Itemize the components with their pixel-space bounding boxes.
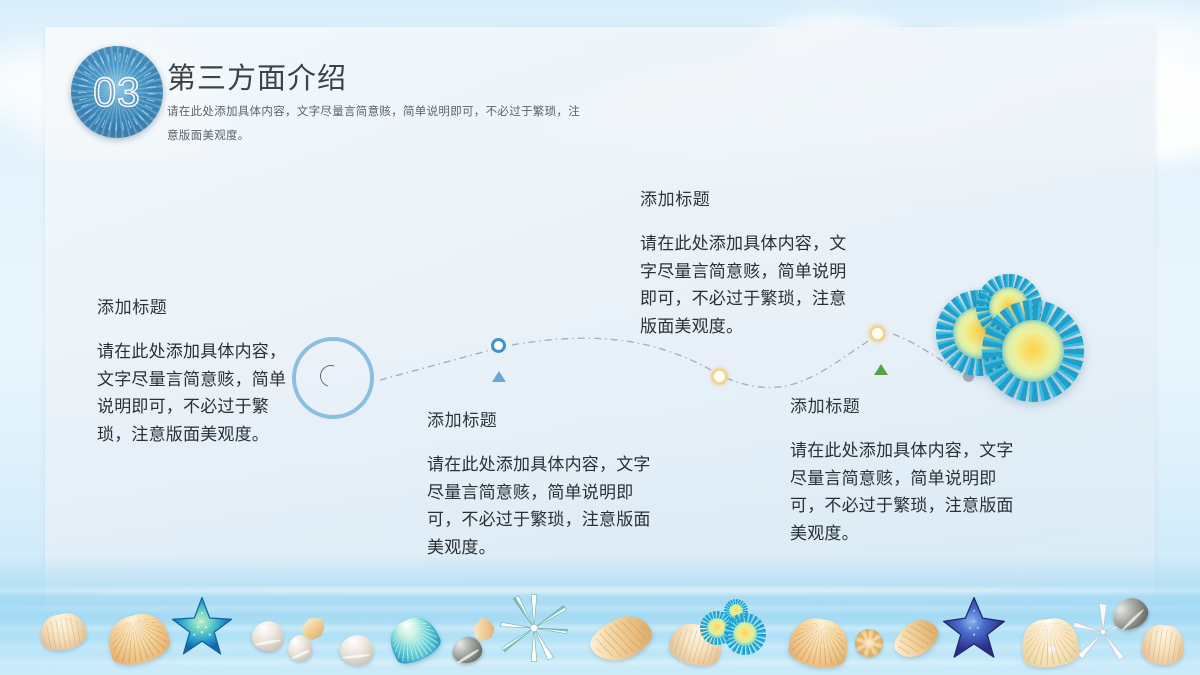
marker-gold-ring-left	[711, 368, 728, 385]
pebble-round-icon	[337, 632, 376, 668]
clam-shell-icon	[37, 610, 89, 655]
content-block-2: 添加标题 请在此处添加具体内容，文字尽量言简意赅，简单说明即可，不必过于繁琐，注…	[427, 406, 655, 561]
navy-starfish-icon	[940, 595, 1008, 661]
section-number-badge: 03	[71, 46, 163, 138]
block-body: 请在此处添加具体内容，文字尽量言简意赅，简单说明即可，不必过于繁琐，注意版面美观…	[427, 451, 655, 561]
scallop-shell-icon-2	[786, 614, 851, 671]
block-heading: 添加标题	[97, 293, 293, 318]
marker-blue-triangle	[492, 371, 506, 382]
slide-root: 03 第三方面介绍 请在此处添加具体内容，文字尽量言简意赅，简单说明即可，不必过…	[0, 0, 1200, 675]
arc-icon	[316, 361, 346, 391]
spire-shell-icon-3	[888, 612, 944, 666]
content-block-3: 添加标题 请在此处添加具体内容，文字尽量言简意赅，简单说明即可，不必过于繁琐，注…	[640, 185, 858, 340]
spiral-shell-icon	[855, 629, 883, 657]
marker-gold-ring-right	[869, 325, 886, 342]
gear-anemone-cluster-icon	[930, 262, 1085, 392]
seashell-border	[0, 579, 1200, 675]
content-block-4: 添加标题 请在此处添加具体内容，文字尽量言简意赅，简单说明即可，不必过于繁琐，注…	[790, 392, 1020, 547]
marker-blue-ring	[491, 338, 506, 353]
block-heading: 添加标题	[790, 392, 1020, 417]
page-subtitle: 请在此处添加具体内容，文字尽量言简意赅，简单说明即可，不必过于繁琐，注意版面美观…	[167, 100, 587, 148]
scallop-shell-icon	[103, 608, 174, 671]
marker-big-ring	[292, 337, 374, 419]
section-number-text: 03	[71, 46, 163, 138]
content-block-1: 添加标题 请在此处添加具体内容，文字尽量言简意赅，简单说明即可，不必过于繁琐，注…	[97, 293, 293, 448]
pebble-icon	[250, 619, 286, 653]
page-title: 第三方面介绍	[167, 55, 347, 97]
block-heading: 添加标题	[427, 406, 655, 431]
block-body: 请在此处添加具体内容，文字尽量言简意赅，简单说明即可，不必过于繁琐，注意版面美观…	[97, 338, 293, 448]
teal-fan-shell-icon	[383, 611, 445, 670]
mini-gear-anemones-icon	[700, 599, 770, 655]
blue-starfish-icon	[170, 595, 234, 659]
pearl-icon	[1047, 645, 1057, 655]
block-heading: 添加标题	[640, 185, 858, 210]
conch-shell-icon	[585, 608, 658, 670]
block-body: 请在此处添加具体内容，文字尽量言简意赅，简单说明即可，不必过于繁琐，注意版面美观…	[790, 437, 1020, 547]
clam-shell-icon-3	[1140, 623, 1186, 667]
marker-green-triangle	[874, 364, 888, 375]
block-body: 请在此处添加具体内容，文字尽量言简意赅，简单说明即可，不必过于繁琐，注意版面美观…	[640, 230, 858, 340]
white-starfish-icon	[495, 593, 573, 663]
